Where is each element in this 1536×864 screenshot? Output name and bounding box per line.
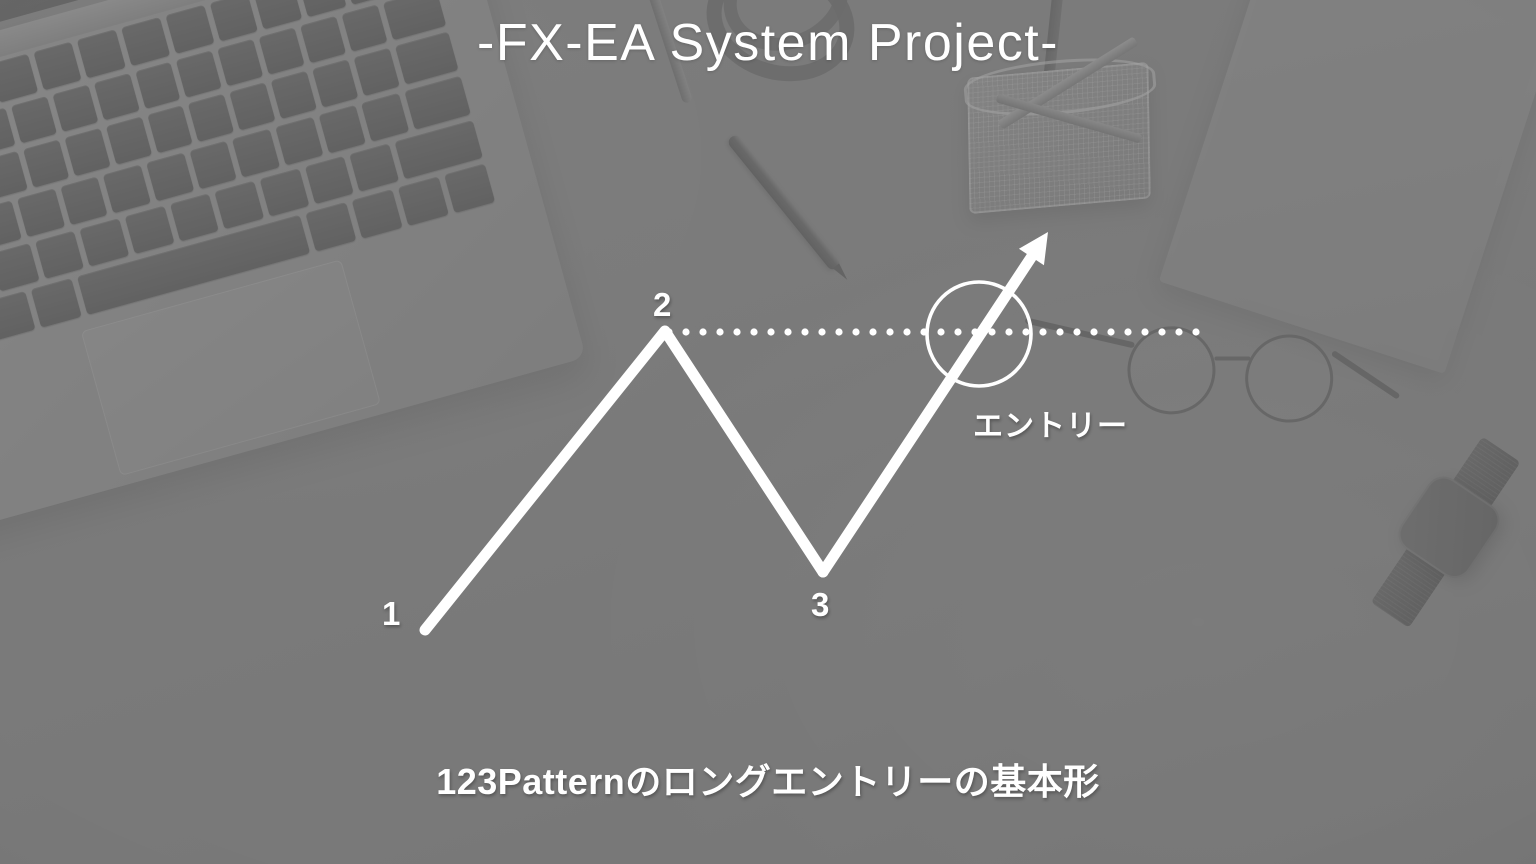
slide-canvas: -FX-EA System Project- 1 2 3 エントリー 123Pa… — [0, 0, 1536, 864]
content-layer: -FX-EA System Project- 1 2 3 エントリー 123Pa… — [0, 0, 1536, 864]
resistance-dotted-line — [665, 328, 1199, 335]
entry-annotation-label: エントリー — [973, 401, 1128, 445]
swing-point-label-1: 1 — [382, 597, 400, 630]
price-zigzag-line — [425, 331, 823, 630]
swing-point-label-3: 3 — [811, 588, 829, 621]
pattern-diagram — [0, 0, 1536, 864]
slide-caption: 123Patternのロングエントリーの基本形 — [0, 753, 1536, 805]
swing-point-label-2: 2 — [653, 288, 671, 321]
